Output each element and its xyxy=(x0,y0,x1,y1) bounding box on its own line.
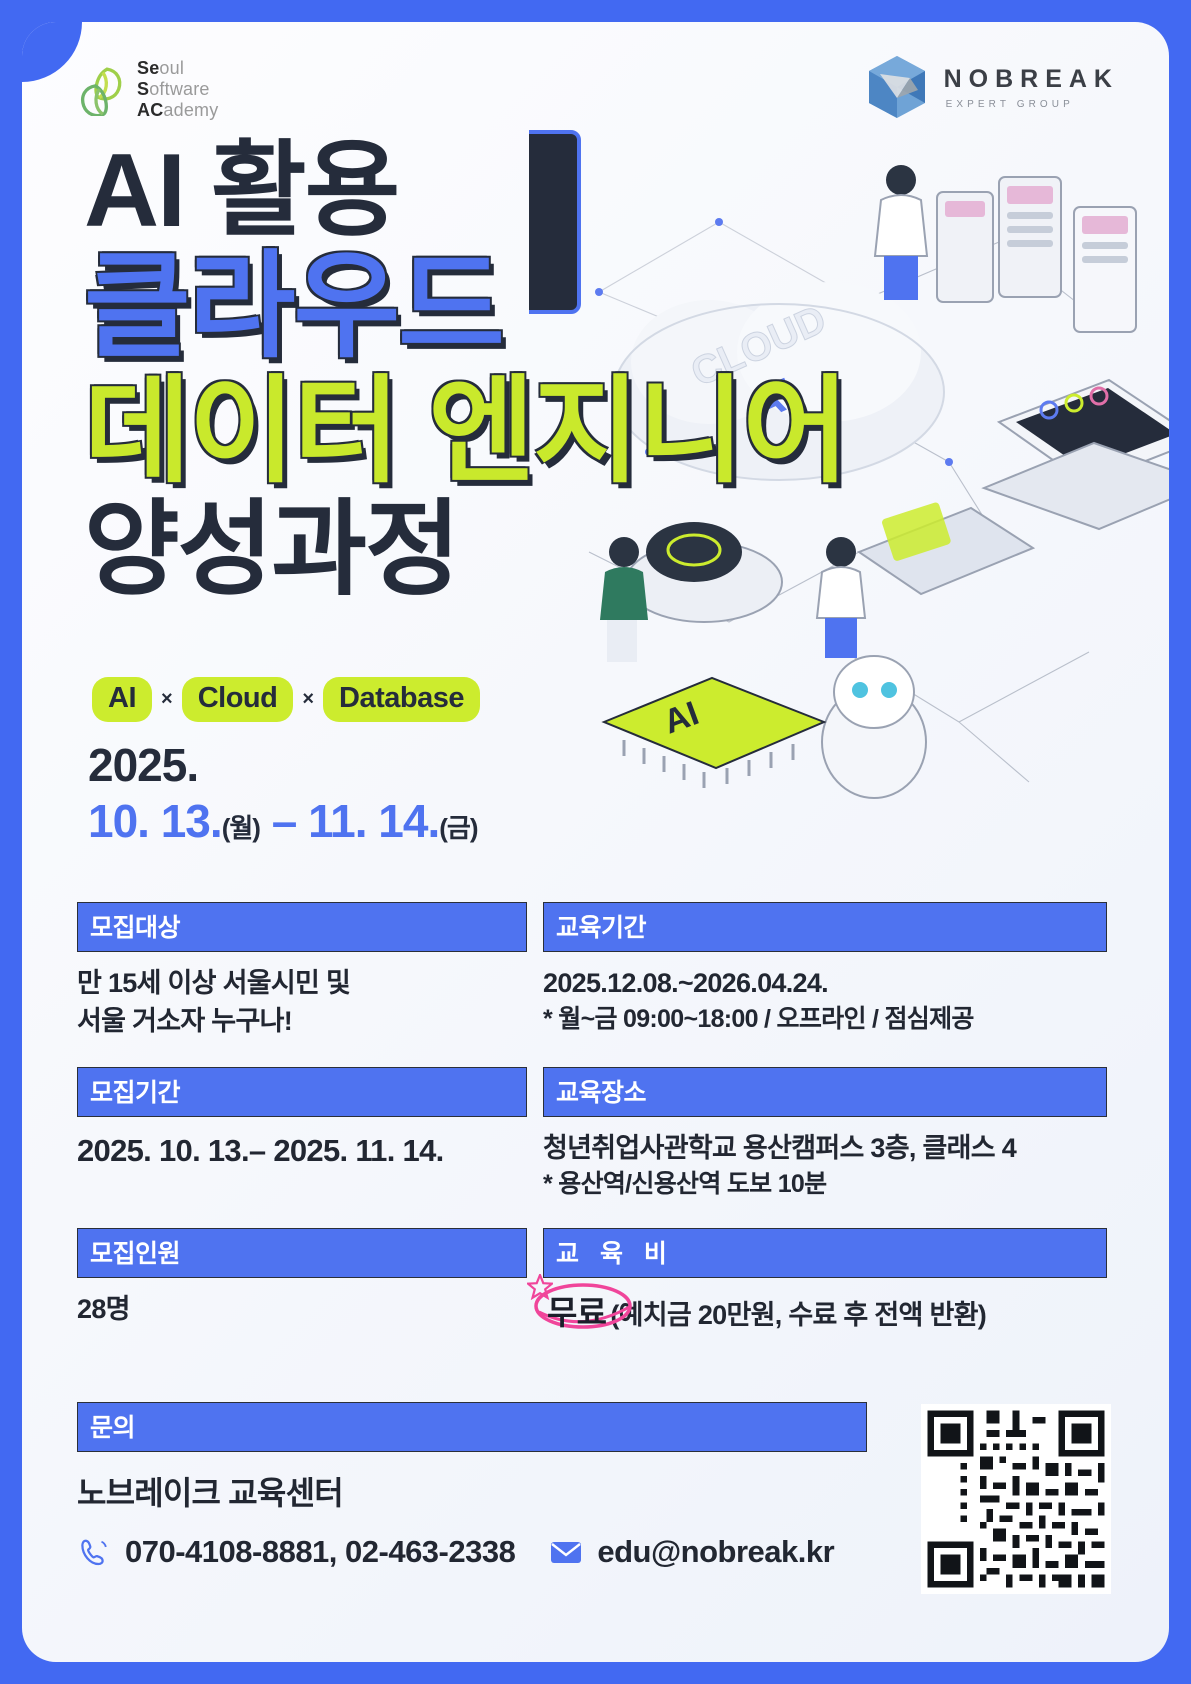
ai-chip-illustration: AI xyxy=(604,678,824,788)
nobreak-tagline: EXPERT GROUP xyxy=(946,99,1119,110)
mail-icon xyxy=(549,1537,583,1567)
location-line-2: * 용산역/신용산역 도보 10분 xyxy=(543,1167,1107,1203)
info-block-location: 교육장소 청년취업사관학교 용산캠퍼스 3층, 클래스 4 * 용산역/신용산역… xyxy=(543,1067,1107,1203)
period-line-2: * 월~금 09:00~18:00 / 오프라인 / 점심제공 xyxy=(543,1002,1107,1038)
title-line-3: 데이터 엔지니어 xyxy=(84,374,847,489)
title-line-1: AI 활용 xyxy=(84,140,847,243)
location-line-1: 청년취업사관학교 용산캠퍼스 3층, 클래스 4 xyxy=(543,1129,1107,1167)
info-grid: 모집대상 만 15세 이상 서울시민 및 서울 거소자 누구나! 교육기간 20… xyxy=(77,902,1107,1363)
seoul-software-academy-logo: Seoul Software ACademy xyxy=(77,58,218,122)
academy-line2-bold: S xyxy=(137,79,149,99)
info-body-period: 2025.12.08.~2026.04.24. * 월~금 09:00~18:0… xyxy=(543,964,1107,1038)
info-title-recruit-period: 모집기간 xyxy=(77,1067,527,1117)
academy-line3-rest: ademy xyxy=(163,100,218,120)
nobreak-logo: NOBREAK EXPERT GROUP xyxy=(866,54,1119,120)
target-line-2: 서울 거소자 누구나! xyxy=(77,1002,527,1040)
event-dates: 2025. 10. 13.(월) – 11. 14.(금) xyxy=(88,738,477,848)
date-end-dow: (금) xyxy=(439,813,477,843)
phone-illustration xyxy=(817,501,1033,658)
poster-canvas: Seoul Software ACademy NOBREAK EXPERT GR… xyxy=(22,22,1169,1662)
info-row-3: 모집인원 28명 교 육 비 무료 xyxy=(77,1228,1107,1337)
robot-illustration xyxy=(822,656,926,798)
badge-database: Database xyxy=(323,677,480,722)
academy-line1-rest: oul xyxy=(159,58,184,78)
info-row-1: 모집대상 만 15세 이상 서울시민 및 서울 거소자 누구나! 교육기간 20… xyxy=(77,902,1107,1041)
contact-details: 070-4108-8881, 02-463-2338 edu@nobreak.k… xyxy=(77,1534,867,1570)
phone-icon xyxy=(77,1537,111,1567)
info-row-2: 모집기간 2025. 10. 13.– 2025. 11. 14. 교육장소 청… xyxy=(77,1067,1107,1203)
hexagon-icon xyxy=(866,54,928,120)
date-range: 10. 13.(월) – 11. 14.(금) xyxy=(88,794,477,848)
date-end: 11. 14. xyxy=(308,795,439,847)
info-title-fee: 교 육 비 xyxy=(543,1228,1107,1278)
info-body-recruit-period: 2025. 10. 13.– 2025. 11. 14. xyxy=(77,1129,527,1173)
info-body-target: 만 15세 이상 서울시민 및 서울 거소자 누구나! xyxy=(77,964,527,1041)
academy-wordmark: Seoul Software ACademy xyxy=(137,58,218,122)
info-title-capacity: 모집인원 xyxy=(77,1228,527,1278)
info-block-period: 교육기간 2025.12.08.~2026.04.24. * 월~금 09:00… xyxy=(543,902,1107,1041)
contact-email[interactable]: edu@nobreak.kr xyxy=(597,1534,834,1570)
contact-phones[interactable]: 070-4108-8881, 02-463-2338 xyxy=(125,1534,515,1570)
contact-org: 노브레이크 교육센터 xyxy=(77,1468,867,1514)
person-servers-illustration xyxy=(875,165,927,300)
fee-free-highlight: 무료 xyxy=(543,1290,610,1337)
recruit-period-line-1: 2025. 10. 13.– 2025. 11. 14. xyxy=(77,1129,527,1173)
date-year: 2025. xyxy=(88,738,477,792)
fee-note: (예치금 20만원, 수료 후 전액 반환) xyxy=(610,1300,986,1330)
nobreak-wordmark: NOBREAK xyxy=(944,65,1119,94)
info-body-location: 청년취업사관학교 용산캠퍼스 3층, 클래스 4 * 용산역/신용산역 도보 1… xyxy=(543,1129,1107,1203)
title-line-2: 클라우드 xyxy=(84,249,847,364)
contact-section: 문의 노브레이크 교육센터 070-4108-8881, 02-463-2338… xyxy=(77,1402,867,1570)
fee-free-label: 무료 xyxy=(543,1294,610,1331)
star-icon xyxy=(527,1274,553,1300)
info-block-target: 모집대상 만 15세 이상 서울시민 및 서울 거소자 누구나! xyxy=(77,902,527,1041)
date-dash: – xyxy=(272,795,297,847)
capacity-line-1: 28명 xyxy=(77,1290,527,1328)
date-start-dow: (월) xyxy=(222,813,260,843)
badge-cloud: Cloud xyxy=(182,677,294,722)
badge-separator-2: × xyxy=(302,688,314,711)
corner-accent xyxy=(22,22,82,82)
info-block-recruit-period: 모집기간 2025. 10. 13.– 2025. 11. 14. xyxy=(77,1067,527,1203)
laptop-illustration xyxy=(984,380,1169,529)
badge-separator-1: × xyxy=(161,688,173,711)
qr-code[interactable] xyxy=(921,1404,1111,1594)
academy-line1-bold: Se xyxy=(137,58,159,78)
keyword-badges: AI × Cloud × Database xyxy=(92,677,480,722)
info-block-fee: 교 육 비 무료 (예치금 20만원, 수료 후 전액 반환) xyxy=(543,1228,1107,1337)
badge-ai: AI xyxy=(92,677,152,722)
server-rack-illustration xyxy=(937,177,1136,332)
info-block-capacity: 모집인원 28명 xyxy=(77,1228,527,1337)
info-title-target: 모집대상 xyxy=(77,902,527,952)
target-line-1: 만 15세 이상 서울시민 및 xyxy=(77,964,527,1002)
academy-line3-bold: AC xyxy=(137,100,163,120)
date-start: 10. 13. xyxy=(88,795,222,847)
info-title-location: 교육장소 xyxy=(543,1067,1107,1117)
info-title-period: 교육기간 xyxy=(543,902,1107,952)
title-line-4: 양성과정 xyxy=(84,499,847,602)
academy-line2-rest: oftware xyxy=(149,79,209,99)
info-body-fee: 무료 (예치금 20만원, 수료 후 전액 반환) xyxy=(543,1290,1107,1337)
hero-title: AI 활용 클라우드 데이터 엔지니어 양성과정 xyxy=(84,140,847,602)
info-body-capacity: 28명 xyxy=(77,1290,527,1328)
contact-title: 문의 xyxy=(77,1402,867,1452)
leaf-icon xyxy=(77,64,127,116)
period-line-1: 2025.12.08.~2026.04.24. xyxy=(543,964,1107,1002)
